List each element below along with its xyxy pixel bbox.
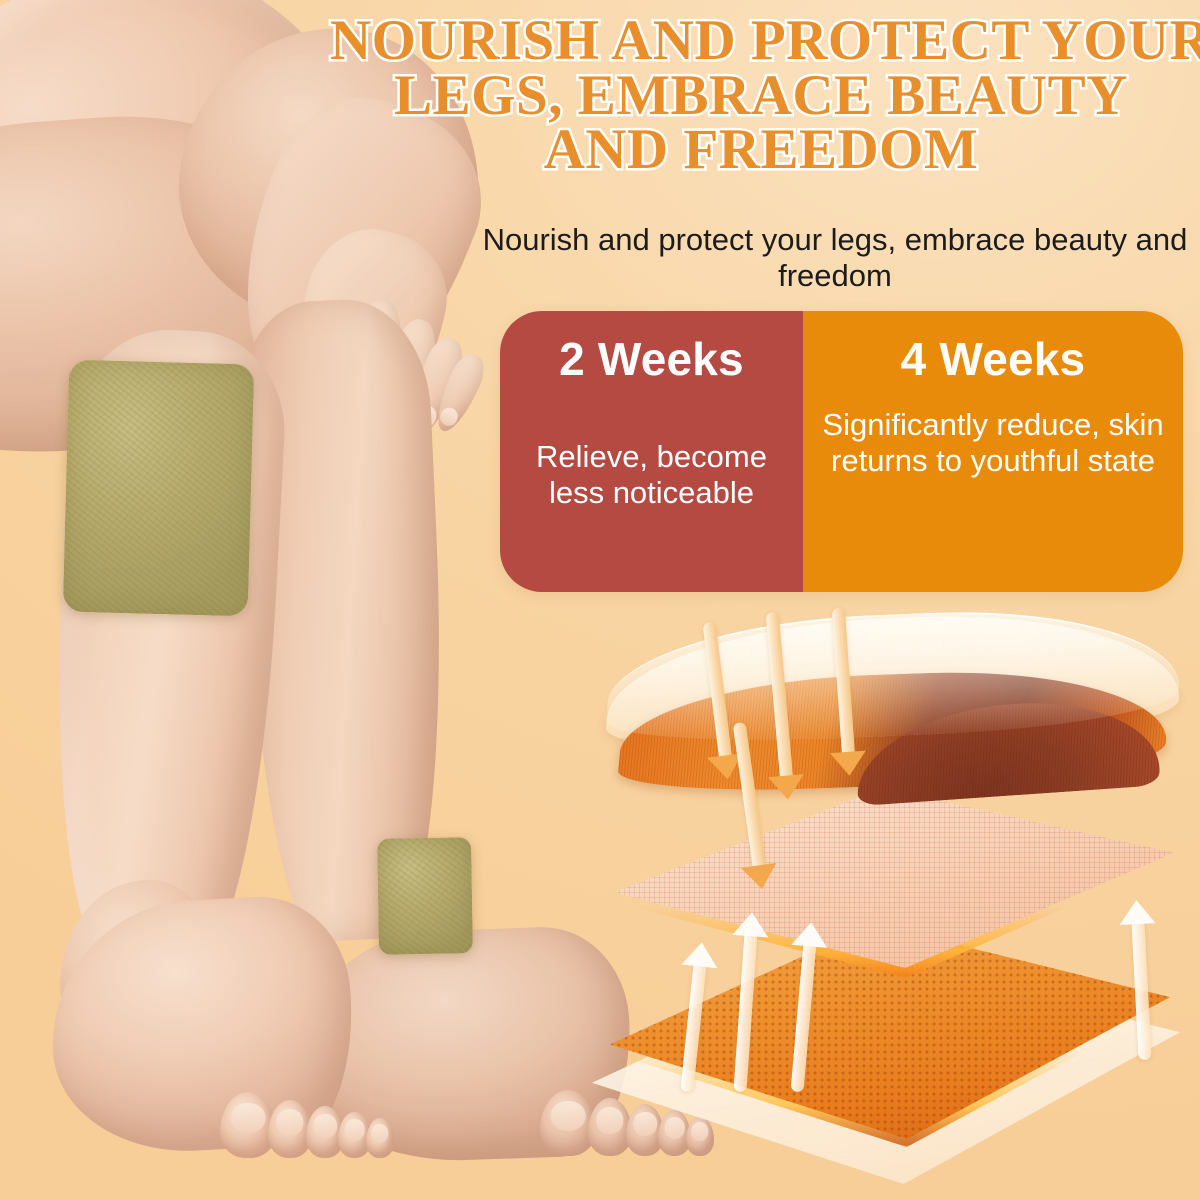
timeline-2-weeks-title: 2 Weeks	[559, 335, 744, 383]
front-foot-toes	[220, 1078, 410, 1158]
timeline-panel-2-weeks: 2 Weeks Relieve, become less noticeable	[500, 311, 803, 592]
toe	[220, 1092, 276, 1158]
headline-line-1: NOURISH AND PROTECT YOUR	[330, 14, 1192, 69]
calf-patch	[63, 360, 255, 617]
timeline-4-weeks-body: Significantly reduce, skin returns to yo…	[821, 407, 1165, 479]
mesh-textured-middle-sheet	[614, 788, 1174, 968]
toenail	[344, 1119, 364, 1140]
fingernail	[437, 405, 461, 429]
toenail	[231, 1103, 266, 1133]
toenail	[313, 1114, 337, 1138]
page-title: NOURISH AND PROTECT YOUR LEGS, EMBRACE B…	[330, 14, 1192, 178]
headline-line-2: LEGS, EMBRACE BEAUTY	[330, 69, 1192, 124]
ad-banner: NOURISH AND PROTECT YOUR LEGS, EMBRACE B…	[0, 0, 1200, 1200]
timeline-2-weeks-body: Relieve, become less noticeable	[514, 439, 789, 511]
mound-bump	[857, 694, 1164, 807]
toe	[268, 1100, 312, 1158]
timeline-card: 2 Weeks Relieve, become less noticeable …	[500, 311, 1183, 592]
toe	[540, 1090, 596, 1156]
toe	[366, 1118, 394, 1158]
toenail	[371, 1124, 388, 1142]
layered-patch-illustration	[600, 602, 1200, 1162]
toenail	[551, 1101, 586, 1131]
subtitle-line-1: Nourish and protect your legs, embrace	[483, 222, 1026, 257]
headline-line-3: AND FREEDOM	[330, 123, 1192, 178]
toenail	[276, 1109, 303, 1136]
subtitle: Nourish and protect your legs, embrace b…	[480, 222, 1190, 294]
timeline-4-weeks-title: 4 Weeks	[901, 335, 1086, 383]
ankle-patch	[377, 837, 473, 955]
arrow-up-icon	[1120, 919, 1161, 1061]
timeline-panel-4-weeks: 4 Weeks Significantly reduce, skin retur…	[803, 311, 1183, 592]
